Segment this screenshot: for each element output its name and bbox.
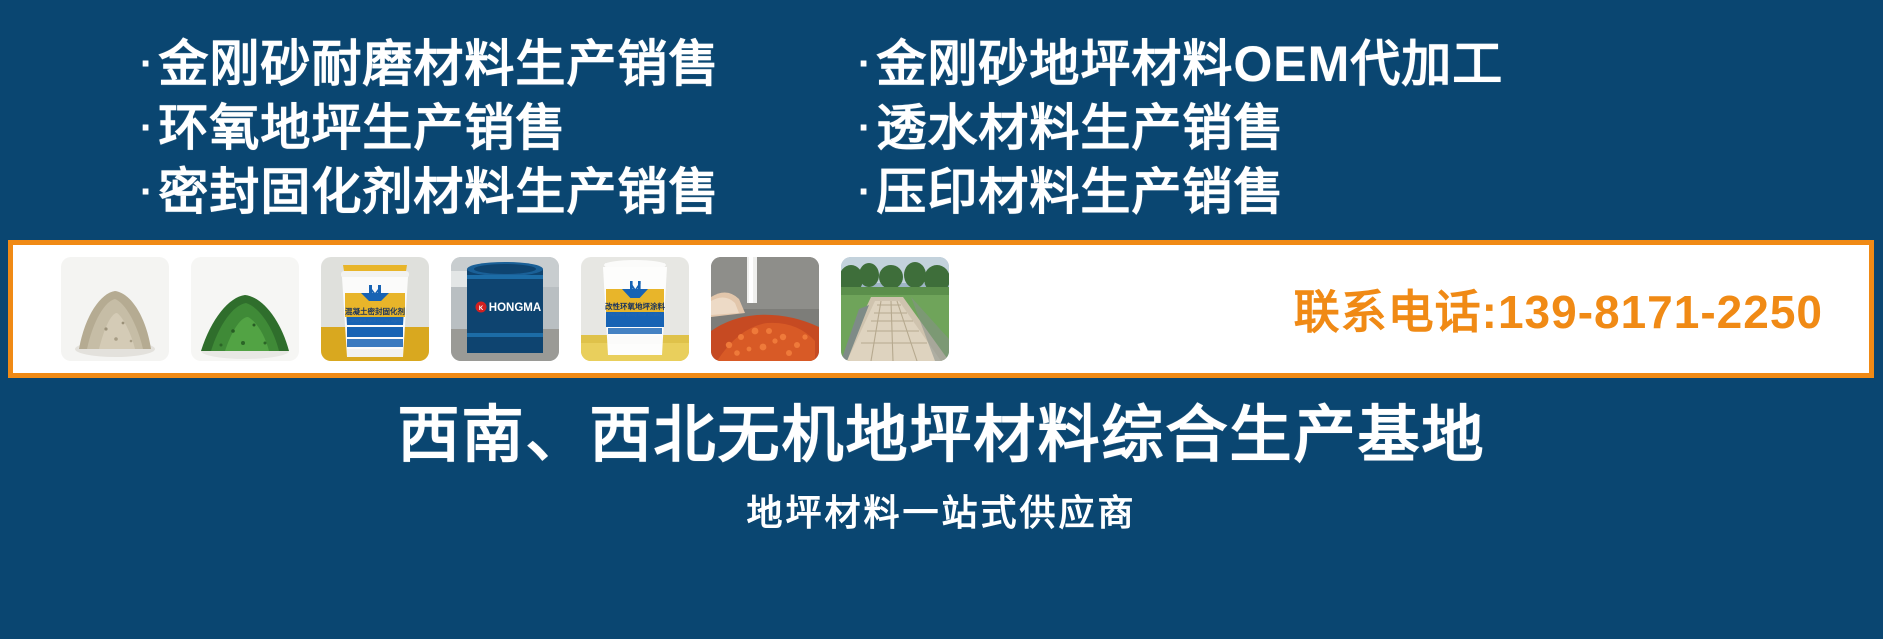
service-item-stamped-material: · 压印材料生产销售: [858, 164, 1758, 224]
footer-headline-area: 西南、西北无机地坪材料综合生产基地 地坪材料一站式供应商: [0, 386, 1883, 639]
product-thumb-epoxy-coating-bucket: 改性环氧地坪涂料 Modified epoxy floor coating: [581, 257, 689, 361]
epoxy-coating-bucket-photo: 改性环氧地坪涂料 Modified epoxy floor coating: [581, 257, 689, 361]
product-showcase-strip: 混凝土密封固化剂 Concrete seal curing agent: [8, 240, 1874, 378]
bullet-dot-icon: ·: [858, 36, 872, 92]
stamped-concrete-path-photo: [841, 257, 949, 361]
svg-text:改性环氧地坪涂料: 改性环氧地坪涂料: [605, 301, 665, 311]
contact-phone[interactable]: 联系电话:139-8171-2250: [1294, 276, 1823, 342]
svg-text:Modified epoxy floor coating: Modified epoxy floor coating: [608, 312, 662, 317]
product-thumb-hongma-drum: K HONGMA: [451, 257, 559, 361]
bullet-dot-icon: ·: [140, 100, 154, 156]
product-thumb-green-powder: [191, 257, 299, 361]
service-item-permeable-material: · 透水材料生产销售: [858, 100, 1758, 160]
service-item-emery-oem: · 金刚砂地坪材料OEM代加工: [858, 36, 1758, 96]
service-label: 环氧地坪生产销售: [158, 100, 566, 156]
product-thumb-sealer-bucket: 混凝土密封固化剂 Concrete seal curing agent: [321, 257, 429, 361]
services-left-column: · 金刚砂耐磨材料生产销售 · 环氧地坪生产销售 · 密封固化剂材料生产销售: [140, 0, 840, 228]
gray-emery-powder-photo: [61, 257, 169, 361]
svg-text:K: K: [479, 306, 484, 312]
service-item-epoxy-floor: · 环氧地坪生产销售: [140, 100, 840, 160]
svg-text:混凝土密封固化剂: 混凝土密封固化剂: [345, 306, 405, 316]
main-headline: 西南、西北无机地坪材料综合生产基地: [397, 398, 1485, 474]
service-label: 透水材料生产销售: [876, 100, 1284, 156]
bullet-dot-icon: ·: [140, 36, 154, 92]
bullet-dot-icon: ·: [858, 100, 872, 156]
green-powder-photo: [191, 257, 299, 361]
svg-text:Concrete seal curing agent: Concrete seal curing agent: [348, 318, 404, 323]
bullet-dot-icon: ·: [858, 164, 872, 220]
services-right-column: · 金刚砂地坪材料OEM代加工 · 透水材料生产销售 · 压印材料生产销售: [858, 0, 1758, 228]
service-label: 压印材料生产销售: [876, 164, 1284, 220]
sub-headline: 地坪材料一站式供应商: [746, 490, 1136, 536]
product-thumb-permeable-aggregate: [711, 257, 819, 361]
sealer-bucket-photo: 混凝土密封固化剂 Concrete seal curing agent: [321, 257, 429, 361]
service-label: 金刚砂地坪材料OEM代加工: [876, 36, 1503, 92]
product-thumb-gray-emery-powder: [61, 257, 169, 361]
bullet-dot-icon: ·: [140, 164, 154, 220]
service-item-emery-wear-resistant: · 金刚砂耐磨材料生产销售: [140, 36, 840, 96]
promo-banner: · 金刚砂耐磨材料生产销售 · 环氧地坪生产销售 · 密封固化剂材料生产销售 ·…: [0, 0, 1883, 639]
product-thumb-stamped-path: [841, 257, 949, 361]
hongma-drum-photo: K HONGMA: [451, 257, 559, 361]
service-label: 金刚砂耐磨材料生产销售: [158, 36, 719, 92]
service-item-sealer-curing-agent: · 密封固化剂材料生产销售: [140, 164, 840, 224]
permeable-aggregate-photo: [711, 257, 819, 361]
service-label: 密封固化剂材料生产销售: [158, 164, 719, 220]
svg-text:HONGMA: HONGMA: [489, 302, 541, 314]
product-thumbnail-list: 混凝土密封固化剂 Concrete seal curing agent: [61, 257, 949, 361]
